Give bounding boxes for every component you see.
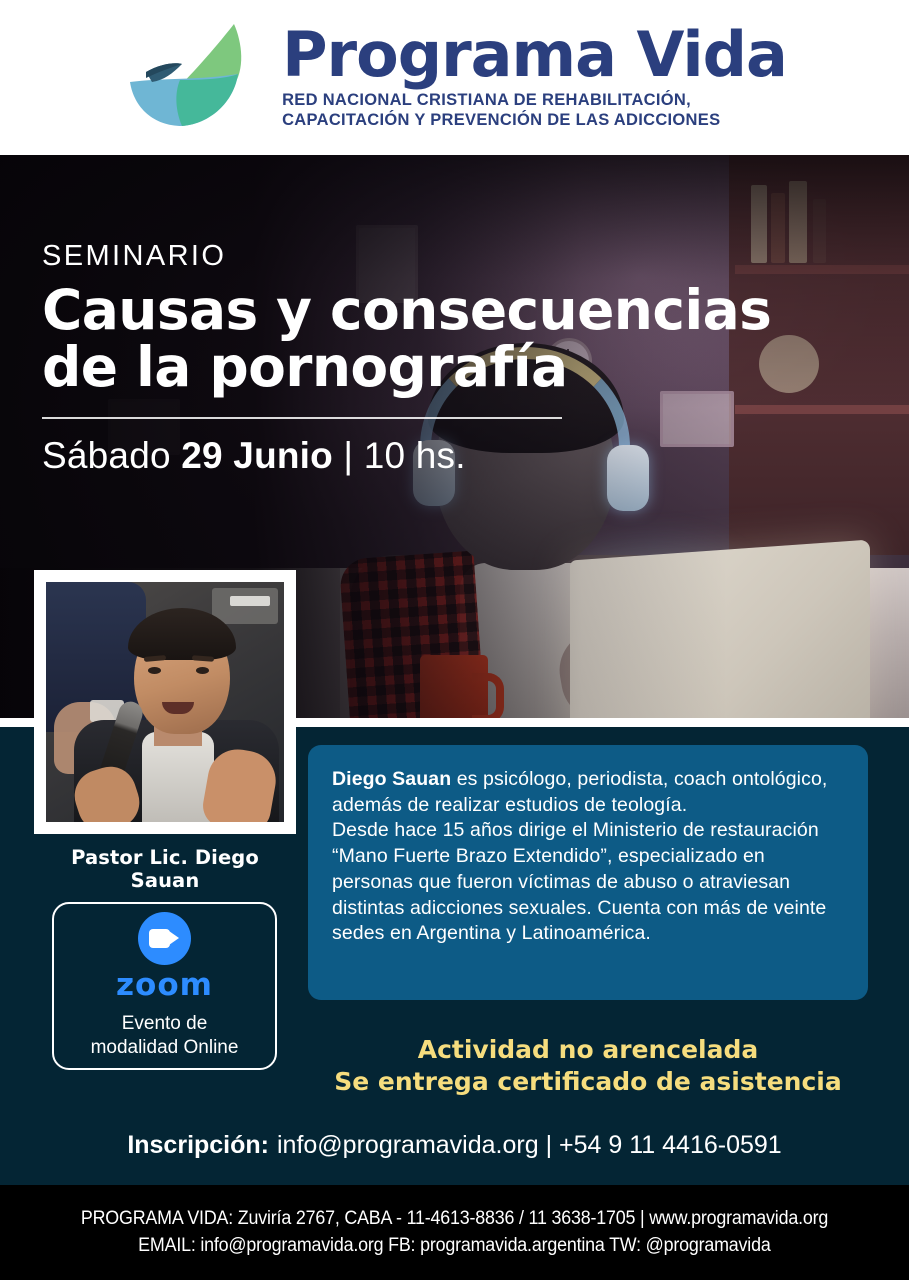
speaker-bio-body: es psicólogo, periodista, coach ontológi… <box>332 768 827 944</box>
zoom-camera-icon <box>138 912 191 965</box>
event-date-strong: 29 Junio <box>181 435 333 476</box>
brand-name: Programa Vida <box>282 25 787 86</box>
leaf-logo-icon <box>116 18 266 138</box>
event-time: 10 hs. <box>364 435 466 476</box>
enrollment-separator: | <box>546 1131 553 1159</box>
hero-headline: Causas y consecuencias de la pornografía <box>42 282 782 395</box>
zoom-caption-line1: Evento de <box>91 1012 239 1036</box>
highlight-line-2: Se entrega certificado de asistencia <box>308 1066 868 1098</box>
speaker-photo-frame <box>34 570 296 834</box>
event-date-prefix: Sábado <box>42 435 181 476</box>
brand-tagline-line2: CAPACITACIÓN Y PREVENCIÓN DE LAS ADICCIO… <box>282 110 787 130</box>
enrollment-label: Inscripción: <box>127 1131 269 1159</box>
brand-logo: Programa Vida RED NACIONAL CRISTIANA DE … <box>116 18 787 138</box>
header-bar: Programa Vida RED NACIONAL CRISTIANA DE … <box>0 0 909 155</box>
hero-divider <box>42 417 562 419</box>
brand-tagline: RED NACIONAL CRISTIANA DE REHABILITACIÓN… <box>282 90 787 130</box>
enrollment-email[interactable]: info@programavida.org <box>277 1131 539 1159</box>
speaker-bio-name: Diego Sauan <box>332 768 451 790</box>
speaker-bio-card: Diego Sauan es psicólogo, periodista, co… <box>308 745 868 1000</box>
zoom-caption: Evento de modalidad Online <box>91 1012 239 1059</box>
enrollment-line: Inscripción:info@programavida.org | +54 … <box>0 1131 909 1160</box>
speaker-caption: Pastor Lic. Diego Sauan <box>34 846 296 892</box>
speaker-photo <box>46 582 284 822</box>
zoom-caption-line2: modalidad Online <box>91 1036 239 1060</box>
online-event-badge: zoom Evento de modalidad Online <box>52 902 277 1070</box>
event-separator: | <box>333 435 364 476</box>
footer-bar: PROGRAMA VIDA: Zuviría 2767, CABA - 11-4… <box>0 1185 909 1280</box>
speaker-bio-text: Diego Sauan es psicólogo, periodista, co… <box>332 767 844 947</box>
poster-root: Programa Vida RED NACIONAL CRISTIANA DE … <box>0 0 909 1280</box>
brand-text: Programa Vida RED NACIONAL CRISTIANA DE … <box>282 25 787 131</box>
brand-tagline-line1: RED NACIONAL CRISTIANA DE REHABILITACIÓN… <box>282 90 787 110</box>
hero-headline-line2: de la pornografía <box>42 339 782 396</box>
zoom-logo: zoom <box>116 912 213 1003</box>
highlight-line-1: Actividad no arencelada <box>308 1034 868 1066</box>
hero-kicker: SEMINARIO <box>42 240 782 273</box>
enrollment-phone[interactable]: +54 9 11 4416-0591 <box>559 1131 782 1159</box>
hero-copy: SEMINARIO Causas y consecuencias de la p… <box>42 240 782 477</box>
hero-headline-line1: Causas y consecuencias <box>42 282 782 339</box>
highlights-block: Actividad no arencelada Se entrega certi… <box>308 1034 868 1098</box>
footer-line-1: PROGRAMA VIDA: Zuviría 2767, CABA - 11-4… <box>81 1208 828 1230</box>
footer-line-2: EMAIL: info@programavida.org FB: program… <box>138 1235 770 1257</box>
zoom-wordmark: zoom <box>116 967 213 1003</box>
event-datetime: Sábado 29 Junio | 10 hs. <box>42 435 782 477</box>
